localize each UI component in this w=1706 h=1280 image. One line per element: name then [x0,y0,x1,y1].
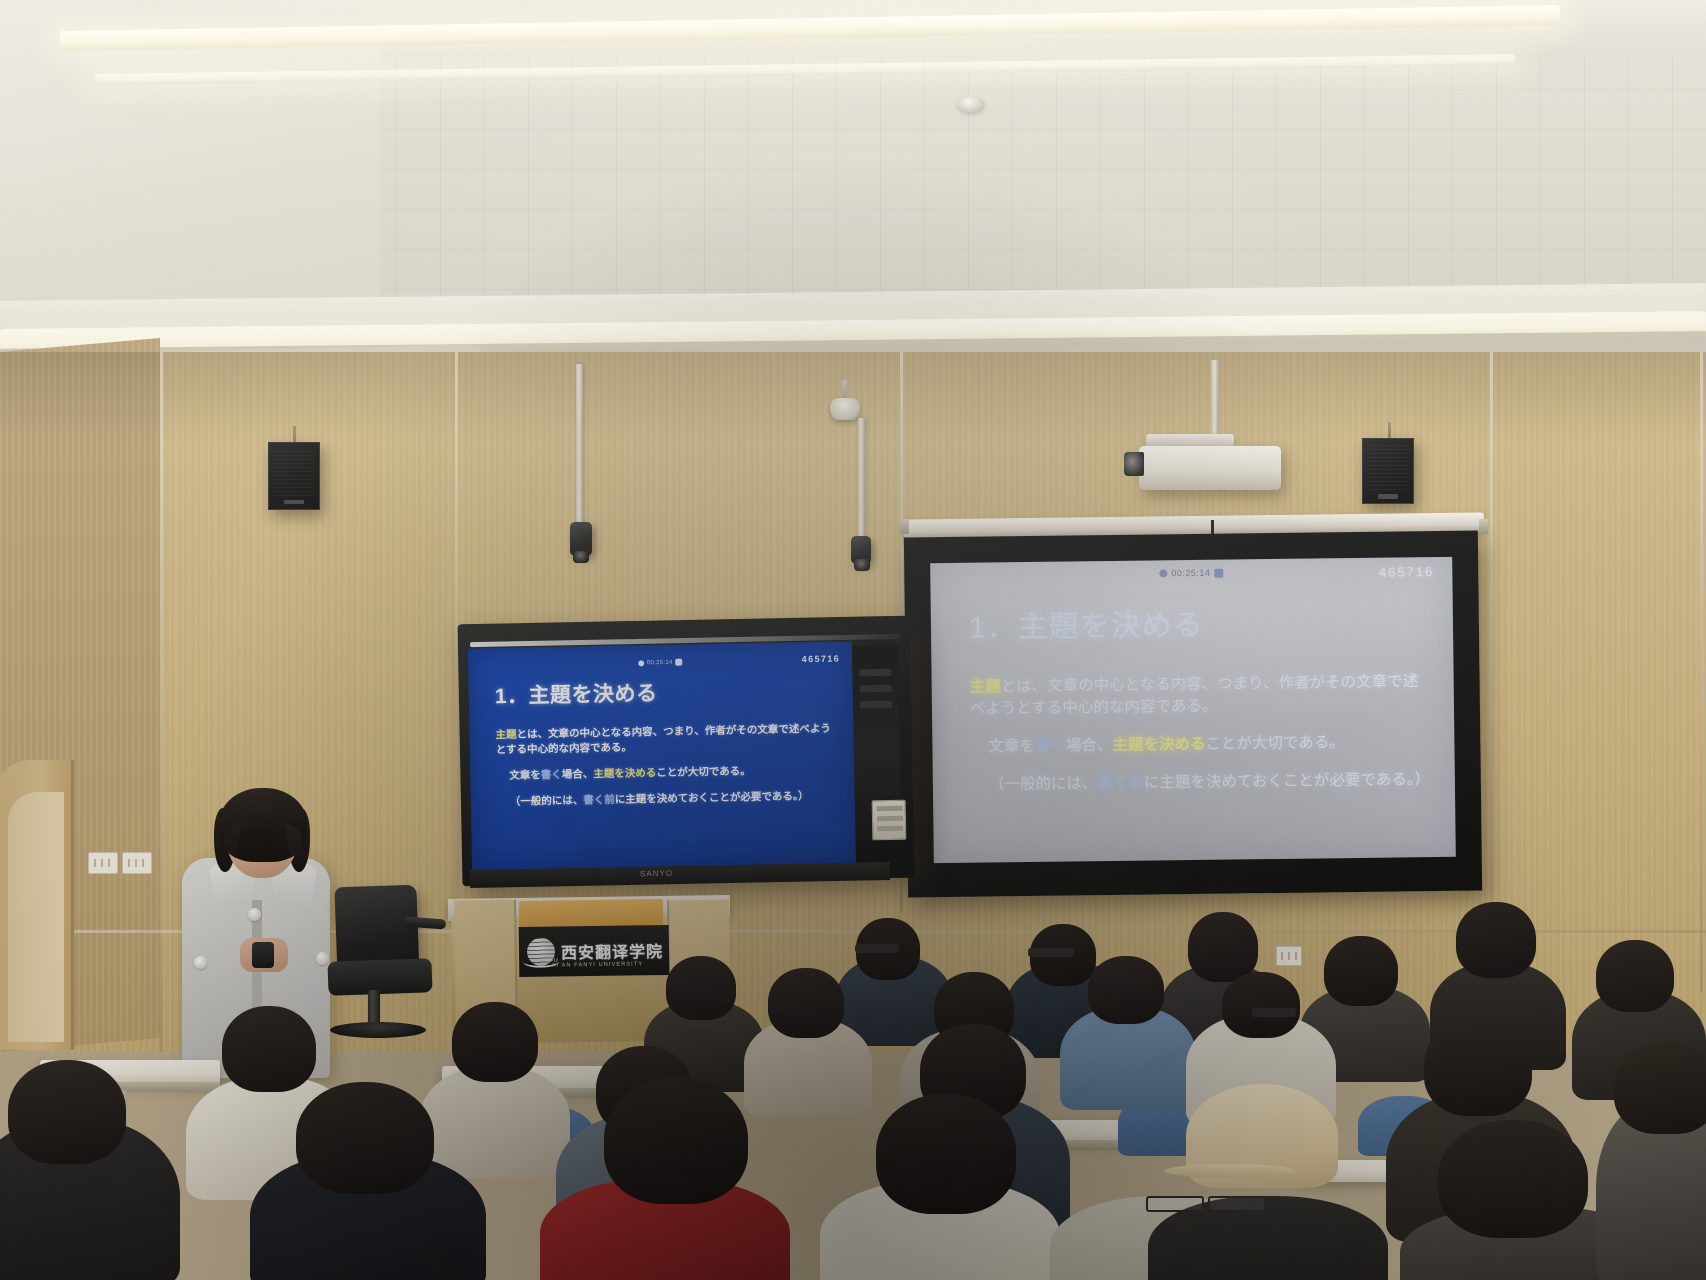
wall-seam-5 [1700,352,1703,992]
paragraph-segment: 前 [604,794,615,806]
panel-port-slot[interactable] [859,669,891,677]
paragraph-segment: （一般的には、 [989,775,1098,793]
panel-slide-paragraph: 文章を書く場合、主題を決めることが大切である。 [496,762,838,783]
screen-rail-cap-right [1479,519,1488,534]
audience-member-head [876,1094,1016,1214]
panel-slide-topbar: 00:25:14 [468,655,852,669]
recording-watermark: 00:25:14 [638,659,683,667]
audience-member-head [222,1006,316,1092]
screen-rail-cap-left [900,519,909,534]
audience-member-head [452,1002,538,1082]
paragraph-segment: 前 [1128,775,1144,792]
presenter-cuff-button [316,952,329,965]
panel-slide-paragraph: 主題とは、文章の中心となる内容、つまり、作者がその文章で述べようとする中心的な内… [495,722,838,758]
projected-slide-paragraph: 文章を書く場合、主題を決めることが大切である。 [970,731,1432,759]
audience-member-head [1424,1018,1532,1116]
projected-slide-topbar: 00:25:14 [930,565,1452,581]
io-plate-slot[interactable] [877,826,903,831]
camera-drop-pole-left [576,364,583,526]
paragraph-segment: 書く [583,794,604,806]
audience-glasses [1208,1196,1266,1212]
projected-slide-paragraph: （一般的には、書く前に主題を決めておくことが必要である。） [971,769,1433,797]
panel-slide-paragraph: （一般的には、書く前に主題を決めておくことが必要である。） [497,788,839,809]
ceiling-projector [1139,446,1281,490]
wall-io-plate[interactable] [872,800,907,841]
audience-glasses [855,944,899,953]
paragraph-segment: 主題 [970,678,1001,695]
audience-glasses [1146,1196,1204,1212]
recording-watermark: 00:25:14 [1159,568,1223,579]
io-plate-slot[interactable] [877,816,903,821]
audience-member-head [1222,972,1300,1038]
audience-member-head [8,1060,126,1164]
office-chair-base [330,1022,426,1038]
paragraph-segment: に主題を決めておくことが必要である。） [1144,771,1430,791]
projected-slide-title: 1．主題を決める [969,597,1432,647]
audience-member-head [604,1078,748,1204]
baseball-cap-brim [1164,1164,1296,1178]
paragraph-segment: 文章を [509,769,541,782]
projected-slide-paragraph: 主題とは、文章の中心となる内容、つまり、作者がその文章で述べようとする中心的な内… [970,671,1433,721]
presenter-coat-button [248,908,261,921]
lectern-university-plaque: 西安翻译学院 [519,925,670,977]
speaker-badge [1378,494,1398,498]
speaker-grille-icon [273,448,315,496]
audience-member-head [1188,912,1258,982]
paragraph-segment: ことが大切である。 [1205,734,1345,753]
side-door-panel[interactable] [8,792,64,1042]
panel-port-slot[interactable] [860,701,892,709]
wall-outlet-left-1[interactable] [88,852,118,874]
audience-member-head [666,956,736,1020]
paragraph-segment: 場合、 [562,768,594,781]
audience-face-mask [1252,1008,1296,1017]
smoke-detector-icon [958,96,984,112]
audience-member-head [1438,1120,1588,1238]
audience-member-head [1614,1042,1706,1134]
dome-camera-icon [830,398,860,420]
presenter-cuff-button [194,956,207,969]
audience-glasses [1028,948,1074,957]
bullet-camera-left [570,522,592,556]
panel-brand-label: SANYO [640,869,673,879]
office-chair-seat[interactable] [327,958,432,996]
wall-seam-1 [160,352,163,1052]
paragraph-segment: とは、文章の中心となる内容、つまり、作者がその文章で述べようとする中心的な内容で… [970,673,1418,717]
lectern-wood-trim [519,899,663,927]
wall-outlet-right[interactable] [1276,946,1302,966]
projected-slide-body: 主題とは、文章の中心となる内容、つまり、作者がその文章で述べようとする中心的な内… [970,671,1433,797]
speaker-badge [284,500,304,505]
audience-member-head [1088,956,1164,1024]
paragraph-segment: 書く [1035,738,1066,755]
interactive-flat-panel-display[interactable]: 00:25:14 465716 1．主題を決める 主題とは、文章の中心となる内容… [468,641,856,870]
panel-slide: 00:25:14 465716 1．主題を決める 主題とは、文章の中心となる内容… [468,641,856,870]
record-dot-icon [638,660,644,666]
wall-seam-4 [1490,352,1493,992]
wall-top-shadow [0,352,1706,442]
projector-mount-pole [1211,360,1219,440]
paragraph-segment: に主題を決めておくことが必要である。） [615,790,809,806]
recording-app-icon [676,659,683,666]
projection-screen-surface[interactable]: 00:25:14 465716 1．主題を決める 主題とは、文章の中心となる内容… [930,557,1456,863]
panel-port-slot[interactable] [860,685,892,693]
wall-outlet-left-2[interactable] [122,852,152,874]
paragraph-segment: とは、文章の中心となる内容、つまり、作者がその文章で述べようとする中心的な内容で… [496,723,831,756]
recording-app-icon [1214,568,1223,577]
paragraph-segment: ことが大切である。 [656,765,751,779]
audience-member-head [1456,902,1536,978]
paragraph-segment: 書く [1097,775,1128,792]
panel-slide-body: 主題とは、文章の中心となる内容、つまり、作者がその文章で述べようとする中心的な内… [495,722,839,810]
camera-drop-pole-right [858,418,865,538]
paragraph-segment: 主題を決める [593,767,656,780]
classroom-lecture-photo: 00:25:14 465716 1．主題を決める 主題とは、文章の中心となる内容… [0,0,1706,1280]
university-name-english: XI'AN FANYI UNIVERSITY [552,961,643,968]
audience-member-head [768,968,844,1038]
university-name-chinese: 西安翻译学院 [561,938,663,963]
wall-speaker-right [1362,438,1414,504]
projected-slide: 00:25:14 465716 1．主題を決める 主題とは、文章の中心となる内容… [930,557,1456,863]
wall-speaker-left [268,442,320,510]
presenter-hair [219,788,307,862]
paragraph-segment: （一般的には、 [510,794,584,807]
audience-member-head [1596,940,1674,1012]
bullet-camera-right [851,536,871,564]
panel-slide-page-number: 465716 [802,654,841,665]
paragraph-segment: 場合、 [1066,737,1113,755]
paragraph-segment: 主題 [495,729,516,741]
audience-member-head [296,1082,434,1194]
paragraph-segment: 書く [541,769,562,781]
panel-slide-title: 1．主題を決める [495,674,838,711]
io-plate-slot[interactable] [877,806,903,811]
projector-lens-icon [1124,452,1144,476]
recording-timer: 00:25:14 [647,659,673,665]
speaker-grille-icon [1367,444,1409,490]
paragraph-segment: 文章を [988,738,1035,756]
projected-slide-page-number: 465716 [1379,564,1435,580]
presentation-remote[interactable] [252,942,274,968]
audience-member-head [1324,936,1398,1006]
audience-member-torso [420,1066,570,1178]
recording-timer: 00:25:14 [1171,568,1210,578]
paragraph-segment: 主題を決める [1112,736,1205,754]
record-dot-icon [1159,569,1167,577]
